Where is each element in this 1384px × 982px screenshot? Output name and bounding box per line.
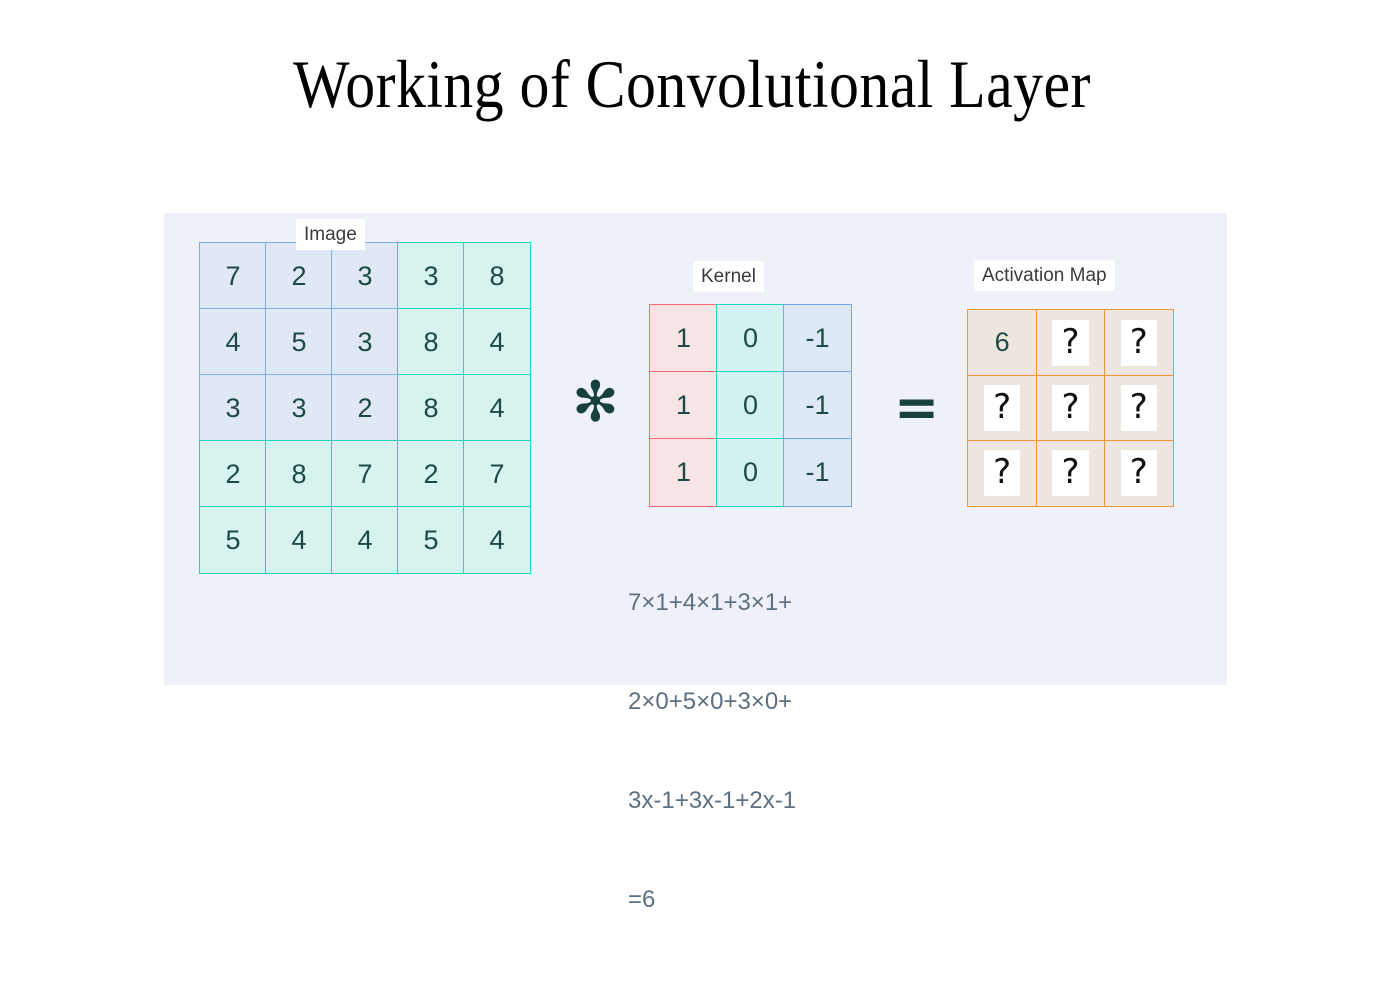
activation-cell: ? [1036, 440, 1106, 507]
activation-unknown: ? [1052, 320, 1088, 366]
activation-cell: ? [967, 440, 1037, 507]
kernel-cell: 0 [716, 304, 785, 373]
activation-map-label: Activation Map [974, 260, 1115, 291]
activation-unknown: ? [984, 385, 1020, 431]
calculation-line: =6 [628, 883, 796, 916]
image-cell: 4 [265, 506, 333, 574]
calculation-line: 3x-1+3x-1+2x-1 [628, 784, 796, 817]
page-title: Working of Convolutional Layer [83, 48, 1301, 121]
image-cell: 2 [265, 242, 333, 310]
image-matrix-label: Image [296, 219, 365, 250]
activation-map-grid: 6 ? ? ? ? ? ? ? ? [968, 310, 1173, 506]
activation-unknown: ? [1052, 450, 1088, 496]
image-cell: 8 [397, 308, 465, 376]
image-cell: 7 [331, 440, 399, 508]
convolution-operator-icon: ✻ [572, 375, 619, 431]
image-cell: 3 [265, 374, 333, 442]
image-cell: 2 [397, 440, 465, 508]
activation-cell: ? [1104, 440, 1174, 507]
image-cell: 5 [397, 506, 465, 574]
equals-operator-icon: = [894, 381, 939, 435]
kernel-cell: -1 [783, 304, 852, 373]
activation-unknown: ? [1121, 385, 1157, 431]
kernel-matrix-grid: 1 0 -1 1 0 -1 1 0 -1 [650, 305, 851, 506]
kernel-cell: 1 [649, 304, 718, 373]
image-cell: 5 [265, 308, 333, 376]
activation-cell: 6 [967, 309, 1037, 376]
image-cell: 3 [331, 308, 399, 376]
image-cell: 4 [463, 308, 531, 376]
activation-unknown: ? [984, 450, 1020, 496]
image-matrix-grid: 7 2 3 3 8 4 5 3 8 4 3 3 2 8 4 2 8 7 2 7 … [200, 243, 530, 573]
activation-cell: ? [1104, 309, 1174, 376]
image-cell: 4 [331, 506, 399, 574]
activation-unknown: ? [1121, 450, 1157, 496]
kernel-label: Kernel [693, 261, 764, 292]
kernel-cell: 0 [716, 438, 785, 507]
image-cell: 5 [199, 506, 267, 574]
kernel-cell: -1 [783, 371, 852, 440]
calculation-line: 2×0+5×0+3×0+ [628, 685, 796, 718]
activation-unknown: ? [1052, 385, 1088, 431]
image-cell: 8 [397, 374, 465, 442]
image-cell: 8 [265, 440, 333, 508]
convolution-diagram-panel: Image 7 2 3 3 8 4 5 3 8 4 3 3 2 8 4 2 8 … [164, 213, 1227, 685]
image-cell: 8 [463, 242, 531, 310]
image-cell: 2 [199, 440, 267, 508]
kernel-cell: 1 [649, 438, 718, 507]
activation-value: 6 [995, 327, 1010, 358]
activation-unknown: ? [1121, 320, 1157, 366]
kernel-cell: -1 [783, 438, 852, 507]
image-cell: 4 [463, 506, 531, 574]
image-cell: 3 [331, 242, 399, 310]
activation-cell: ? [967, 375, 1037, 442]
image-cell: 3 [199, 374, 267, 442]
image-cell: 4 [199, 308, 267, 376]
kernel-cell: 1 [649, 371, 718, 440]
activation-cell: ? [1036, 375, 1106, 442]
image-cell: 2 [331, 374, 399, 442]
activation-cell: ? [1036, 309, 1106, 376]
image-cell: 4 [463, 374, 531, 442]
kernel-cell: 0 [716, 371, 785, 440]
calculation-text: 7×1+4×1+3×1+ 2×0+5×0+3×0+ 3x-1+3x-1+2x-1… [628, 520, 796, 982]
activation-cell: ? [1104, 375, 1174, 442]
image-cell: 7 [199, 242, 267, 310]
image-cell: 7 [463, 440, 531, 508]
image-cell: 3 [397, 242, 465, 310]
calculation-line: 7×1+4×1+3×1+ [628, 586, 796, 619]
